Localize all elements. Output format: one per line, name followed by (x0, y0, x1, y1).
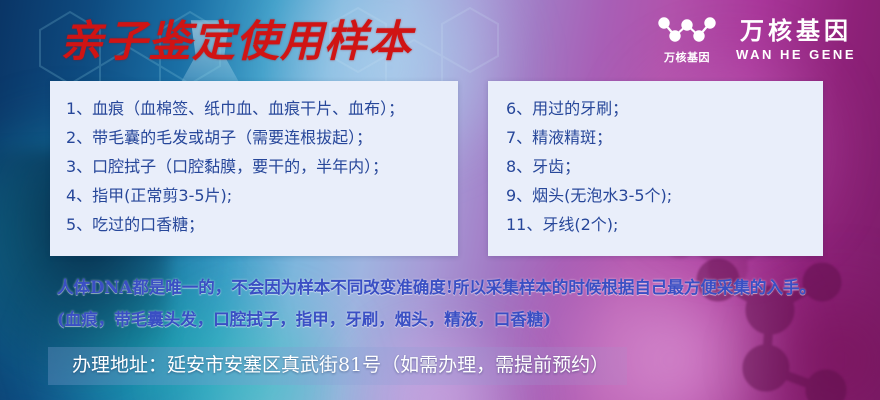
brand-logo[interactable]: 万核基因 万核基因 WAN HE GENE (656, 16, 856, 65)
molecule-icon (656, 16, 718, 46)
note-paragraph: 人体DNA都是唯一的，不会因为样本不同改变准确度!所以采集样本的时候根据自己最方… (57, 272, 827, 336)
sample-list-panel-left: 1、血痕（血棉签、纸巾血、血痕干片、血布）； 2、带毛囊的毛发或胡子（需要连根拔… (50, 81, 458, 256)
list-item: 1、血痕（血棉签、纸巾血、血痕干片、血布）； (50, 94, 458, 123)
brand-name-block: 万核基因 WAN HE GENE (736, 19, 856, 62)
list-item: 11、牙线(2个); (488, 210, 823, 239)
list-item: 2、带毛囊的毛发或胡子（需要连根拔起）； (50, 123, 458, 152)
sample-list-left: 1、血痕（血棉签、纸巾血、血痕干片、血布）； 2、带毛囊的毛发或胡子（需要连根拔… (50, 81, 458, 239)
brand-name-en: WAN HE GENE (736, 47, 856, 62)
sample-list-right: 6、用过的牙刷； 7、精液精斑； 8、牙齿； 9、烟头(无泡水3-5个); 11… (488, 81, 823, 239)
list-item: 8、牙齿； (488, 152, 823, 181)
list-item: 3、口腔拭子（口腔黏膜，要干的，半年内）； (50, 152, 458, 181)
list-item: 5、吃过的口香糖； (50, 210, 458, 239)
list-item: 4、指甲(正常剪3-5片); (50, 181, 458, 210)
address-text: 办理地址：延安市安塞区真武街81号（如需办理，需提前预约） (72, 351, 609, 379)
brand-name-cn: 万核基因 (740, 19, 852, 45)
logo-mark: 万核基因 (656, 16, 718, 65)
list-item: 9、烟头(无泡水3-5个); (488, 181, 823, 210)
promo-banner: 亲子鉴定使用样本 万核基因 万核基因 WAN HE GEN (0, 0, 880, 400)
page-title: 亲子鉴定使用样本 (60, 18, 412, 66)
address-bar: 办理地址：延安市安塞区真武街81号（如需办理，需提前预约） (48, 347, 627, 385)
list-item: 6、用过的牙刷； (488, 94, 823, 123)
sample-list-panel-right: 6、用过的牙刷； 7、精液精斑； 8、牙齿； 9、烟头(无泡水3-5个); 11… (488, 81, 823, 256)
logo-mark-label: 万核基因 (664, 49, 710, 65)
list-item: 7、精液精斑； (488, 123, 823, 152)
